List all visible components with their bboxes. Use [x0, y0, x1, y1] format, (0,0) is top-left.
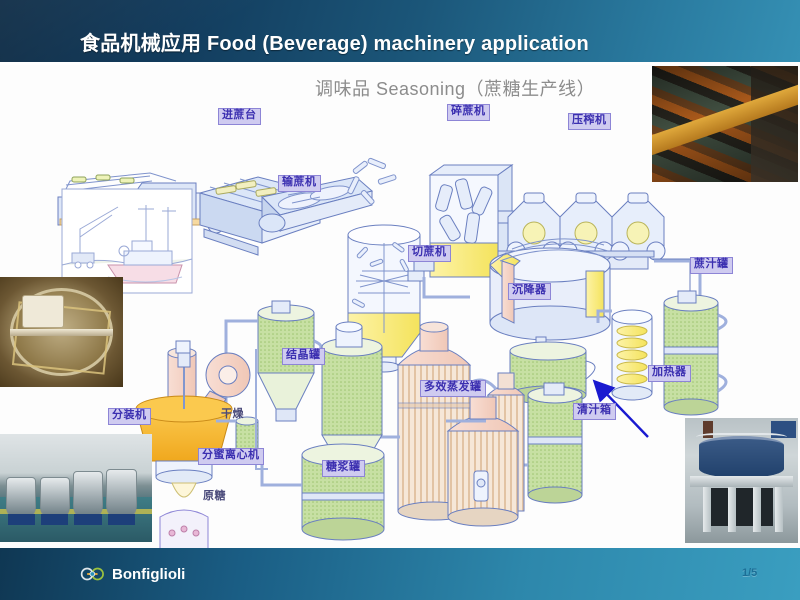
label-syrup-tank: 糖浆罐 [322, 460, 365, 477]
label-dryer: 干燥 [218, 408, 247, 423]
label-clarifier-settler: 沉降器 [508, 283, 551, 300]
photo-honey-extractor [0, 277, 123, 387]
label-cane-feed-table: 进蔗台 [218, 108, 261, 125]
label-cane-juice-tank: 蔗汁罐 [690, 257, 733, 274]
diagram-canvas: 调味品 Seasoning（蔗糖生产线） [0, 65, 800, 548]
label-cane-conveyor: 输蔗机 [278, 175, 321, 192]
page-number: 1/5 [742, 567, 757, 579]
label-juice-heater: 加热器 [648, 365, 691, 382]
slide: 食品机械应用 Food (Beverage) machinery applica… [0, 0, 800, 600]
photo-centrifuge-hall [0, 434, 152, 542]
bonfiglioli-logo-icon [80, 567, 106, 581]
label-cane-cutter: 切蔗机 [408, 245, 451, 262]
label-crystallizer-tank: 结晶罐 [282, 348, 325, 365]
label-packing-machine: 分装机 [108, 408, 151, 425]
photo-mill-house [652, 66, 798, 182]
slide-header: 食品机械应用 Food (Beverage) machinery applica… [0, 0, 800, 62]
label-centrifugal-separator: 分蜜离心机 [198, 448, 264, 465]
photo-clarifier-tower [685, 418, 798, 543]
label-raw-sugar: 原糖 [200, 490, 229, 505]
label-mill-press: 压榨机 [568, 113, 611, 130]
label-cane-shredder: 碎蔗机 [447, 104, 490, 121]
brand-name: Bonfiglioli [112, 566, 185, 583]
label-clear-juice-box: 清汁箱 [573, 403, 616, 420]
label-multi-effect-evaporator: 多效蒸发罐 [420, 380, 486, 397]
page-title: 食品机械应用 Food (Beverage) machinery applica… [80, 27, 589, 56]
